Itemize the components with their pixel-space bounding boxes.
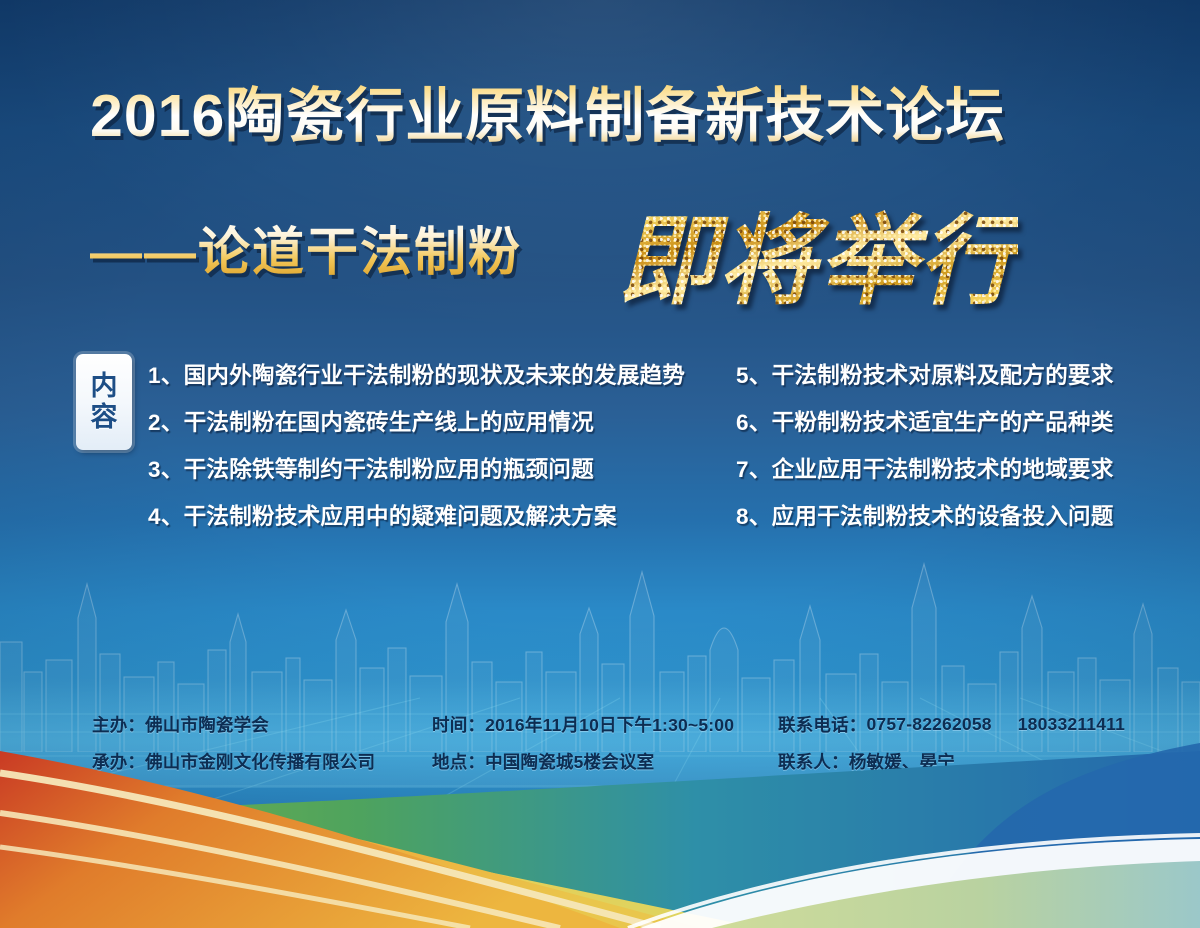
topic-item: 1、 国内外陶瓷行业干法制粉的现状及未来的发展趋势 bbox=[148, 350, 736, 397]
phone-landline: 0757-82262058 bbox=[867, 714, 992, 735]
phone-row: 联系电话： 0757-82262058 18033211411 bbox=[778, 706, 1125, 743]
topic-item: 2、 干法制粉在国内瓷砖生产线上的应用情况 bbox=[148, 397, 736, 444]
topic-text: 干法制粉技术应用中的疑难问题及解决方案 bbox=[184, 499, 617, 531]
phone-label: 联系电话： bbox=[778, 712, 867, 737]
topic-number: 8、 bbox=[736, 499, 772, 531]
topic-number: 1、 bbox=[148, 358, 184, 390]
topic-item: 8、 应用干法制粉技术的设备投入问题 bbox=[736, 491, 1158, 538]
topic-item: 6、 干粉制粉技术适宜生产的产品种类 bbox=[736, 397, 1158, 444]
topic-item: 5、 干法制粉技术对原料及配方的要求 bbox=[736, 350, 1158, 397]
topic-item: 7、 企业应用干法制粉技术的地域要求 bbox=[736, 444, 1158, 491]
phone-values: 0757-82262058 18033211411 bbox=[867, 714, 1126, 735]
bottom-ribbon-graphic bbox=[0, 743, 1200, 928]
topic-number: 6、 bbox=[736, 405, 772, 437]
topic-number: 7、 bbox=[736, 452, 772, 484]
time-label: 时间： bbox=[432, 712, 485, 737]
phone-mobile: 18033211411 bbox=[1018, 714, 1125, 735]
topic-number: 5、 bbox=[736, 358, 772, 390]
poster-subtitle: ——论道干法制粉 bbox=[90, 210, 522, 285]
topic-text: 国内外陶瓷行业干法制粉的现状及未来的发展趋势 bbox=[184, 358, 686, 390]
content-badge: 内 容 bbox=[76, 354, 132, 450]
host-row: 主办： 佛山市陶瓷学会 bbox=[92, 706, 375, 743]
topic-list: 1、 国内外陶瓷行业干法制粉的现状及未来的发展趋势 5、 干法制粉技术对原料及配… bbox=[148, 350, 1158, 538]
event-poster: 2016陶瓷行业原料制备新技术论坛 ——论道干法制粉 即将举行 内 容 1、 国… bbox=[0, 0, 1200, 928]
topic-number: 4、 bbox=[148, 499, 184, 531]
poster-highlight-text: 即将举行 bbox=[618, 182, 1018, 324]
topic-text: 干法除铁等制约干法制粉应用的瓶颈问题 bbox=[184, 452, 594, 484]
poster-title: 2016陶瓷行业原料制备新技术论坛 bbox=[90, 68, 1005, 153]
topic-number: 3、 bbox=[148, 452, 184, 484]
time-row: 时间： 2016年11月10日下午1:30~5:00 bbox=[432, 706, 734, 743]
topic-text: 应用干法制粉技术的设备投入问题 bbox=[772, 499, 1114, 531]
topic-item: 3、 干法除铁等制约干法制粉应用的瓶颈问题 bbox=[148, 444, 736, 491]
host-label: 主办： bbox=[92, 712, 145, 737]
content-badge-char-1: 内 bbox=[91, 372, 118, 401]
host-value: 佛山市陶瓷学会 bbox=[145, 712, 269, 737]
topic-text: 干法制粉在国内瓷砖生产线上的应用情况 bbox=[184, 405, 594, 437]
topic-text: 干法制粉技术对原料及配方的要求 bbox=[772, 358, 1114, 390]
topic-text: 企业应用干法制粉技术的地域要求 bbox=[772, 452, 1114, 484]
content-badge-char-2: 容 bbox=[91, 403, 118, 432]
title-block: 2016陶瓷行业原料制备新技术论坛 ——论道干法制粉 即将举行 bbox=[0, 62, 1200, 292]
topic-number: 2、 bbox=[148, 405, 184, 437]
topic-item: 4、 干法制粉技术应用中的疑难问题及解决方案 bbox=[148, 491, 736, 538]
topic-text: 干粉制粉技术适宜生产的产品种类 bbox=[772, 405, 1114, 437]
time-value: 2016年11月10日下午1:30~5:00 bbox=[485, 712, 734, 737]
